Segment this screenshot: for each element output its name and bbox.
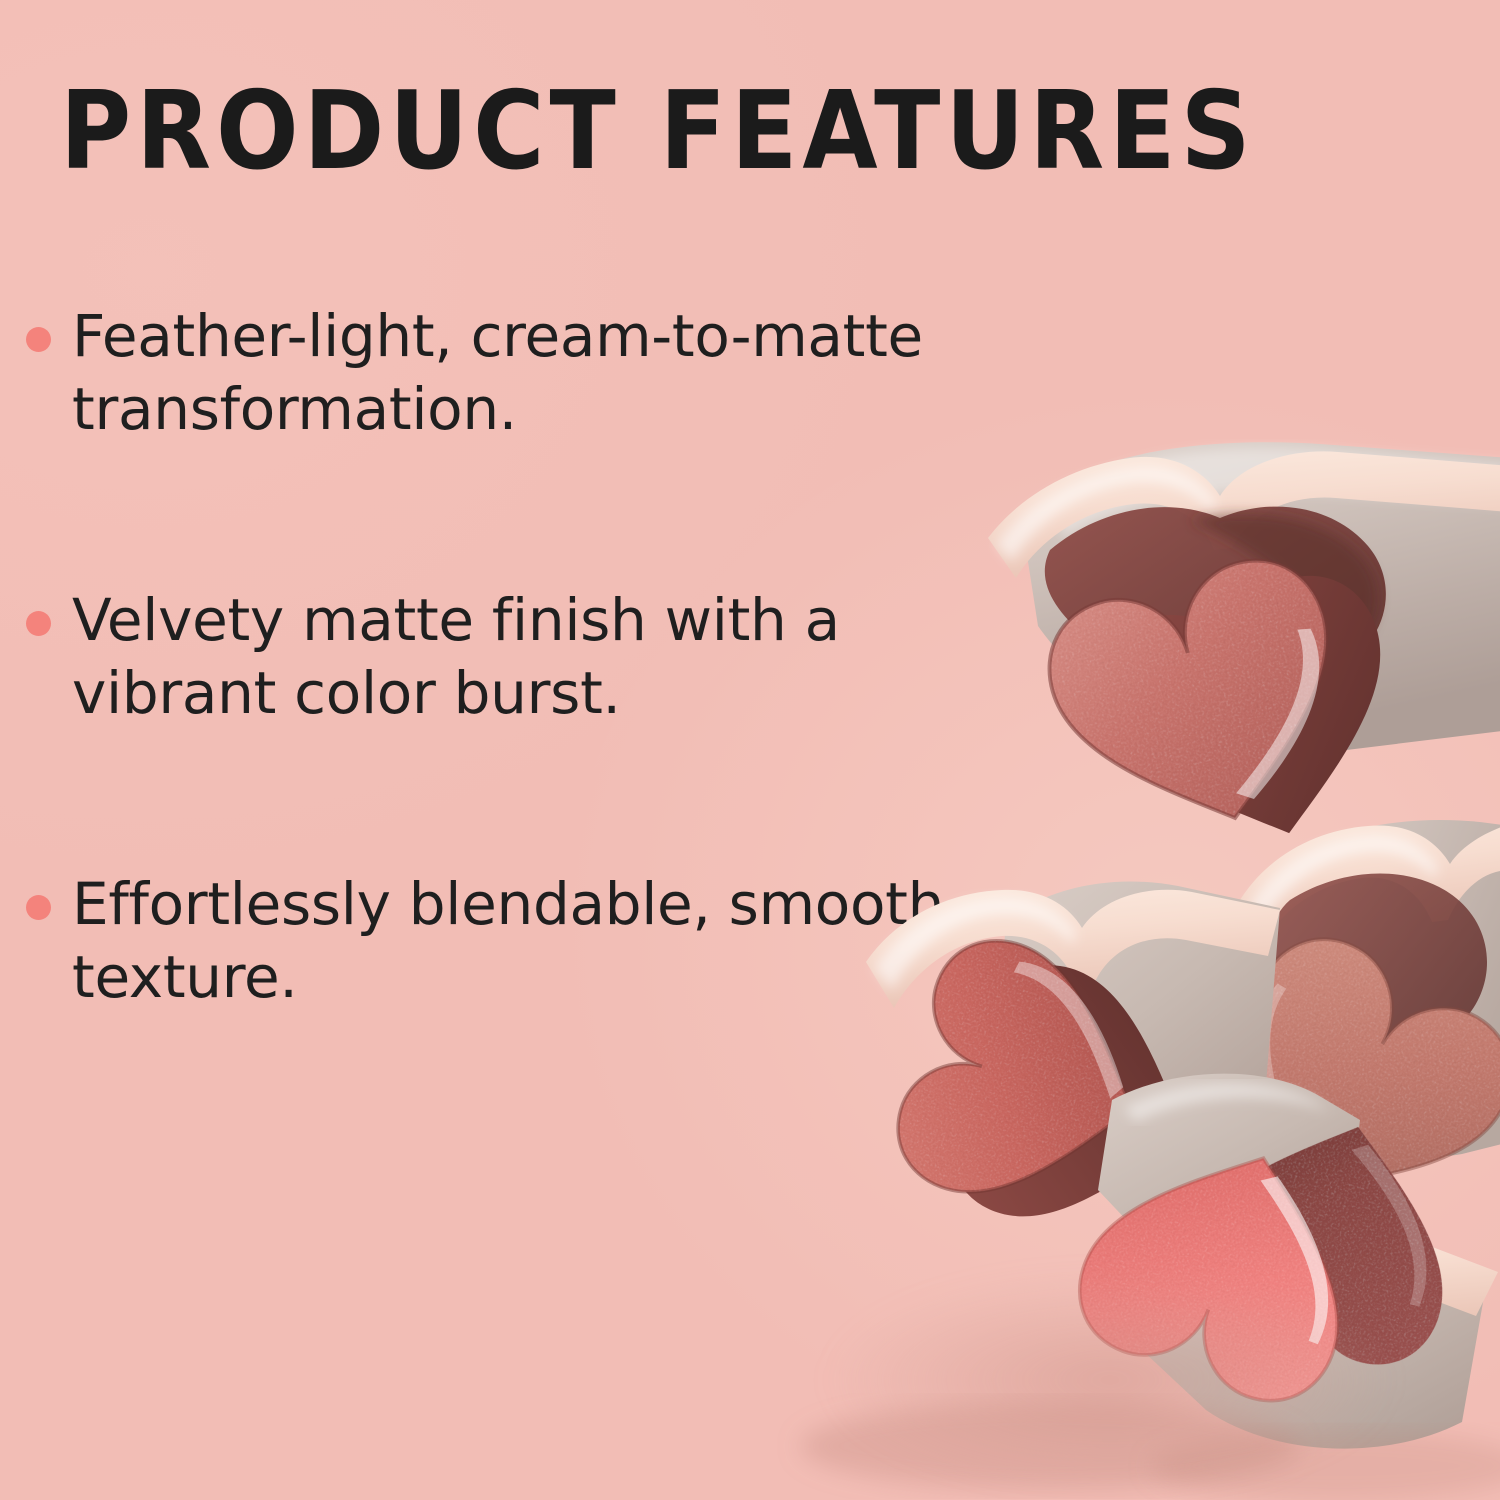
bullet-dot-icon	[26, 611, 51, 636]
bullet-dot-icon	[26, 327, 51, 352]
page-title: PRODUCT FEATURES	[60, 78, 1256, 186]
product-features-banner: PRODUCT FEATURES Feather-light, cream-to…	[0, 0, 1500, 1500]
product-photo	[720, 400, 1500, 1500]
bullet-dot-icon	[26, 895, 51, 920]
lipstick-tube-upper	[988, 442, 1500, 872]
heart-lipstick-illustration	[720, 400, 1500, 1500]
